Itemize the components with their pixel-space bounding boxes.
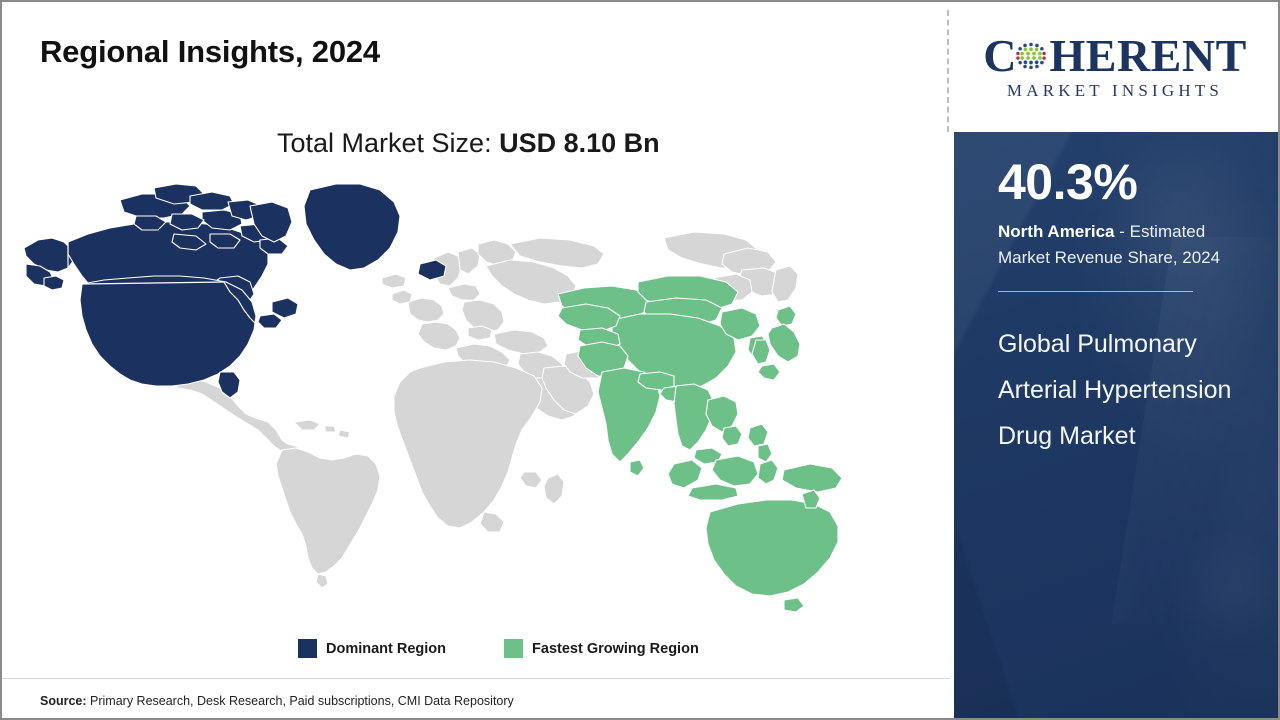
infographic-frame: Regional Insights, 2024 Total Market Siz… xyxy=(0,0,1280,720)
map-dominant-regions xyxy=(24,184,446,398)
left-panel: Regional Insights, 2024 Total Market Siz… xyxy=(2,2,950,718)
legend-swatch-growing xyxy=(504,639,523,658)
market-size-label: Total Market Size: xyxy=(277,128,499,158)
world-map xyxy=(24,182,844,612)
company-logo: C xyxy=(952,2,1278,132)
legend-label-dominant: Dominant Region xyxy=(326,641,446,657)
stat-divider xyxy=(998,291,1193,292)
source-note: Source: Primary Research, Desk Research,… xyxy=(40,694,514,708)
logo-name-rest: HERENT xyxy=(1049,33,1246,79)
source-text: Primary Research, Desk Research, Paid su… xyxy=(87,694,514,708)
stat-percentage: 40.3% xyxy=(998,156,1234,209)
legend-item-growing: Fastest Growing Region xyxy=(504,639,699,658)
total-market-size: Total Market Size: USD 8.10 Bn xyxy=(277,128,660,159)
stat-region-name: North America xyxy=(998,222,1115,241)
world-map-svg xyxy=(24,182,844,612)
map-growing-regions xyxy=(558,276,844,612)
stat-panel: 40.3% North America - Estimated Market R… xyxy=(954,132,1278,718)
market-size-value: USD 8.10 Bn xyxy=(499,128,660,158)
source-divider xyxy=(2,678,950,679)
report-title: Global Pulmonary Arterial Hypertension D… xyxy=(998,322,1234,459)
logo-letter-c: C xyxy=(983,33,1016,79)
legend-swatch-dominant xyxy=(298,639,317,658)
map-legend: Dominant Region Fastest Growing Region xyxy=(298,639,699,658)
legend-item-dominant: Dominant Region xyxy=(298,639,446,658)
stat-description: North America - Estimated Market Revenue… xyxy=(998,219,1234,272)
page-title: Regional Insights, 2024 xyxy=(40,34,380,70)
panel-divider xyxy=(947,10,949,132)
logo-tagline: MARKET INSIGHTS xyxy=(1007,81,1223,101)
legend-label-growing: Fastest Growing Region xyxy=(532,641,699,657)
source-label: Source: xyxy=(40,694,87,708)
right-panel: C xyxy=(952,2,1278,718)
logo-wordmark: C xyxy=(983,33,1247,79)
dotted-globe-icon xyxy=(1014,39,1048,73)
